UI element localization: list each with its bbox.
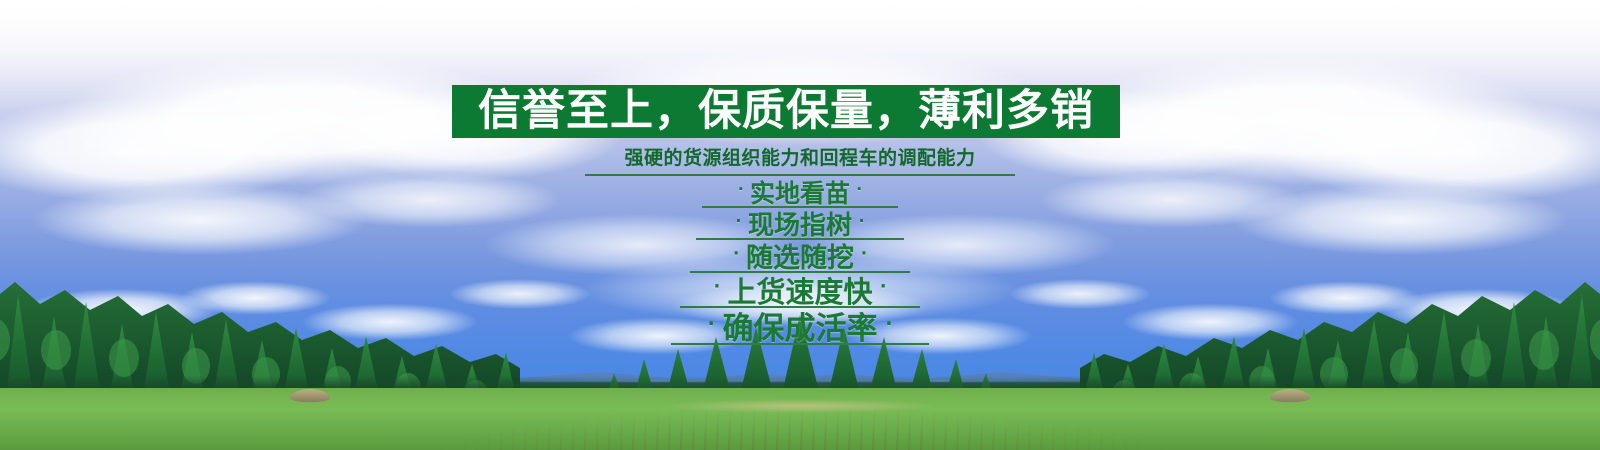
bullet-dot-right: · [856, 182, 862, 198]
headline-text: 信誉至上，保质保量，薄利多销 [478, 90, 1094, 133]
feature-item: · 现场指树 · [0, 207, 1600, 239]
promo-banner: 信誉至上，保质保量，薄利多销 强硬的货源组织能力和回程车的调配能力 · 实地看苗… [0, 0, 1600, 450]
feature-item: · 实地看苗 · [0, 176, 1600, 207]
bullet-dot-left: · [708, 314, 715, 333]
bullet-dot-left: · [738, 182, 744, 198]
subtitle-block: 强硬的货源组织能力和回程车的调配能力 [0, 143, 1600, 176]
subtitle-text: 强硬的货源组织能力和回程车的调配能力 [624, 147, 975, 169]
feature-item: · 上货速度快 · [0, 272, 1600, 307]
bullet-dot-right: · [861, 245, 867, 262]
bullet-dot-right: · [858, 213, 864, 229]
bullet-dot-left: · [735, 213, 741, 229]
bullet-dot-right: · [885, 314, 892, 333]
feature-list: · 实地看苗 · · 现场指树 · · 随选随挖 · · 上货速度快 · [0, 176, 1600, 344]
bullet-dot-right: · [880, 278, 887, 296]
feature-item: · 随选随挖 · [0, 239, 1600, 272]
feature-underline [671, 343, 929, 345]
headline-banner: 信誉至上，保质保量，薄利多销 [452, 85, 1120, 138]
bullet-dot-left: · [713, 278, 720, 296]
banner-content: 信誉至上，保质保量，薄利多销 强硬的货源组织能力和回程车的调配能力 · 实地看苗… [0, 0, 1600, 450]
bullet-dot-left: · [733, 245, 739, 262]
feature-item: · 确保成活率 · [0, 307, 1600, 344]
feature-label: 确保成活率 [723, 303, 878, 348]
